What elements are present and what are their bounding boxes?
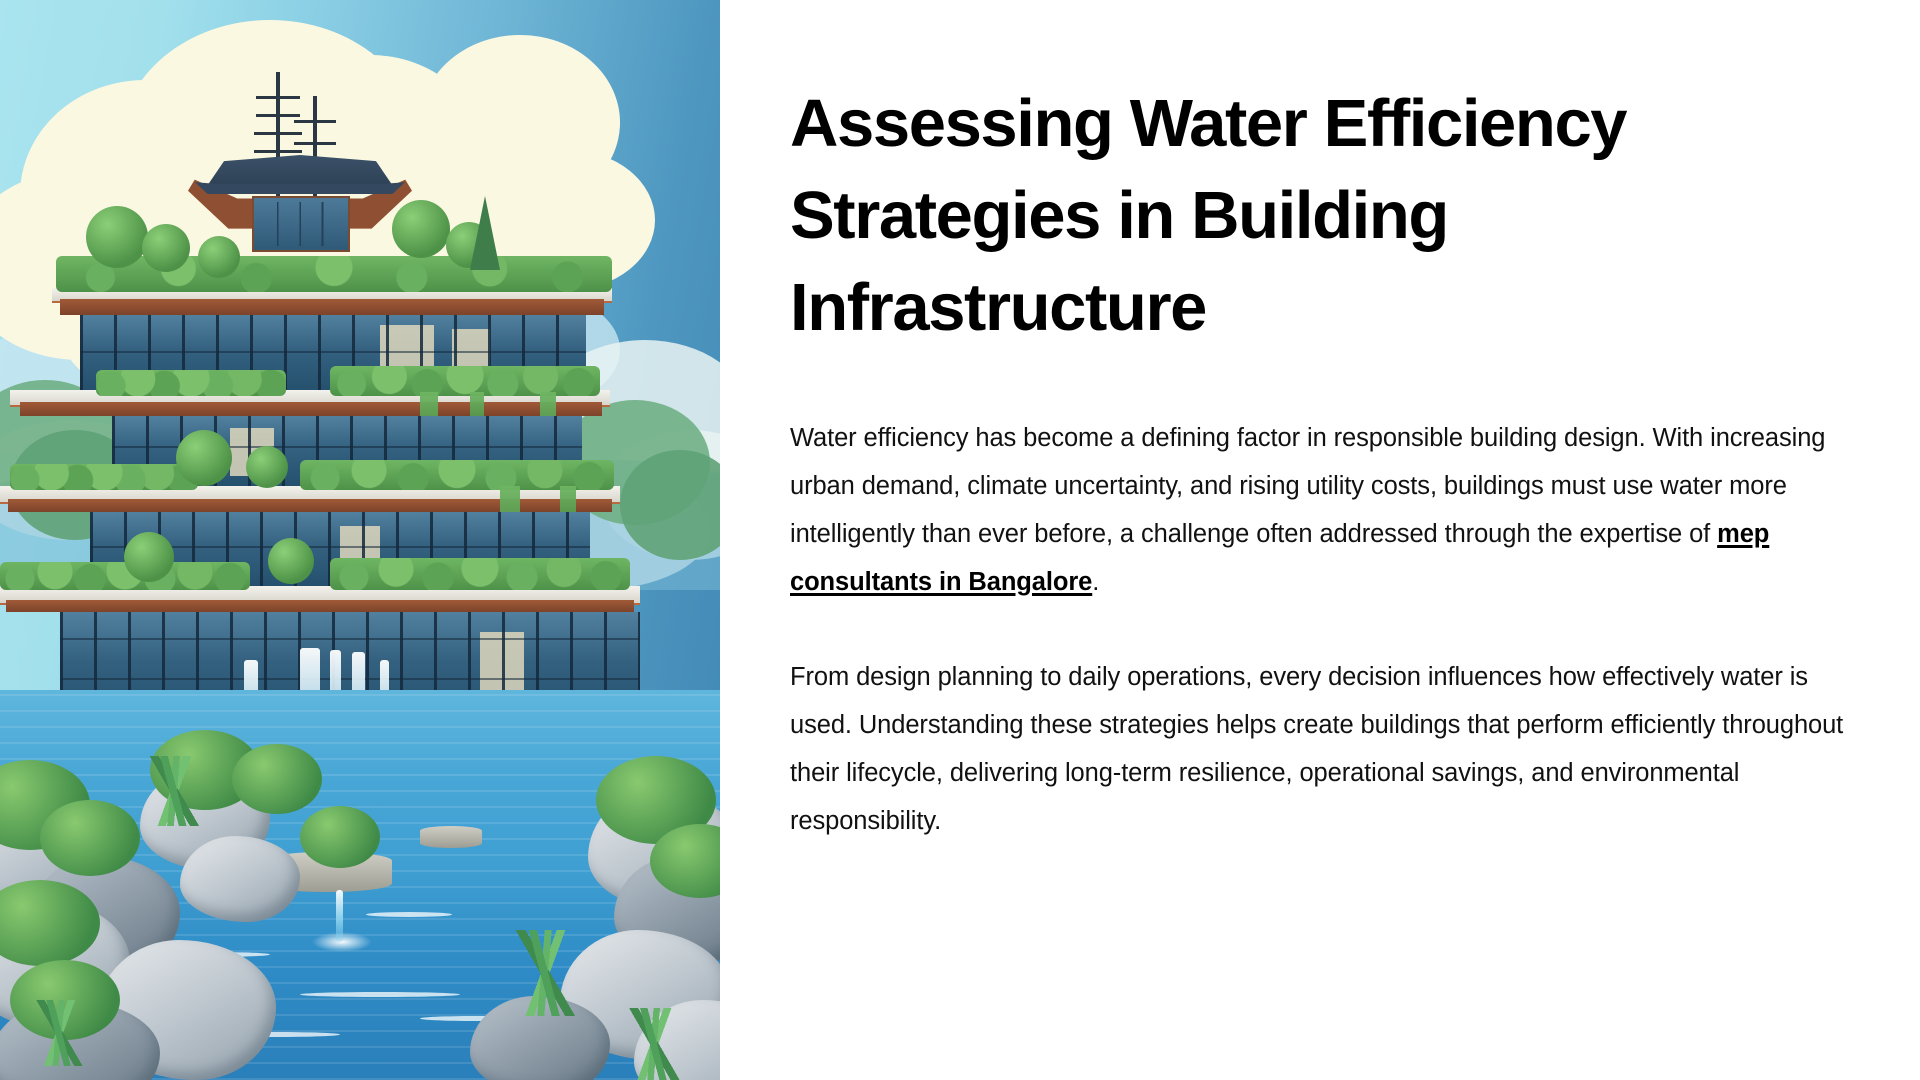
- antenna-spar: [254, 150, 302, 153]
- terrace-tree: [124, 532, 174, 582]
- balcony-planter: [330, 558, 630, 590]
- balcony-planter: [330, 366, 600, 396]
- antenna-spar: [256, 96, 300, 99]
- water-ripple: [300, 992, 460, 997]
- terrace-tree: [392, 200, 450, 258]
- article-body: Water efficiency has become a defining f…: [790, 354, 1850, 845]
- antenna-spar: [254, 132, 302, 135]
- article-content: Assessing Water Efficiency Strategies in…: [720, 0, 1920, 1080]
- terrace-fascia: [20, 402, 602, 416]
- shrub: [40, 800, 140, 876]
- paragraph-2: From design planning to daily operations…: [790, 653, 1850, 845]
- terrace-tree: [246, 446, 288, 488]
- paragraph-1: Water efficiency has become a defining f…: [790, 414, 1850, 606]
- pagoda-roof-ridge: [205, 155, 395, 189]
- paragraph-1-text-before-link: Water efficiency has become a defining f…: [790, 424, 1825, 548]
- article-page: Assessing Water Efficiency Strategies in…: [0, 0, 1920, 1080]
- terrace-tree: [176, 430, 232, 486]
- rock: [180, 836, 300, 922]
- antenna-spar: [294, 120, 336, 123]
- ornamental-grass: [130, 756, 220, 826]
- paragraph-1-text-after-link: .: [1092, 568, 1099, 596]
- penthouse-cabin: [252, 196, 350, 252]
- shrub: [300, 806, 380, 868]
- balcony-planter: [96, 370, 286, 396]
- hero-illustration: [0, 0, 720, 1080]
- terrace-fascia: [6, 600, 634, 612]
- shrub: [232, 744, 322, 814]
- terrace-tree: [86, 206, 148, 268]
- terrace-tree: [142, 224, 190, 272]
- roof-garden-hedge: [56, 256, 612, 292]
- antenna-spar: [294, 142, 336, 145]
- water-ripple: [366, 912, 452, 917]
- lit-window: [480, 632, 524, 694]
- antenna-spar: [256, 114, 300, 117]
- terrace-tree: [198, 236, 240, 278]
- pond-platform: [420, 826, 482, 848]
- ornamental-grass: [612, 1008, 698, 1080]
- fountain-jet: [336, 890, 343, 942]
- page-title: Assessing Water Efficiency Strategies in…: [790, 78, 1850, 354]
- terrace-tree: [268, 538, 314, 584]
- terrace-fascia: [8, 499, 612, 512]
- ornamental-grass: [20, 1000, 100, 1066]
- terrace-fascia: [60, 299, 604, 315]
- balcony-planter: [10, 464, 198, 490]
- ornamental-grass: [500, 930, 592, 1016]
